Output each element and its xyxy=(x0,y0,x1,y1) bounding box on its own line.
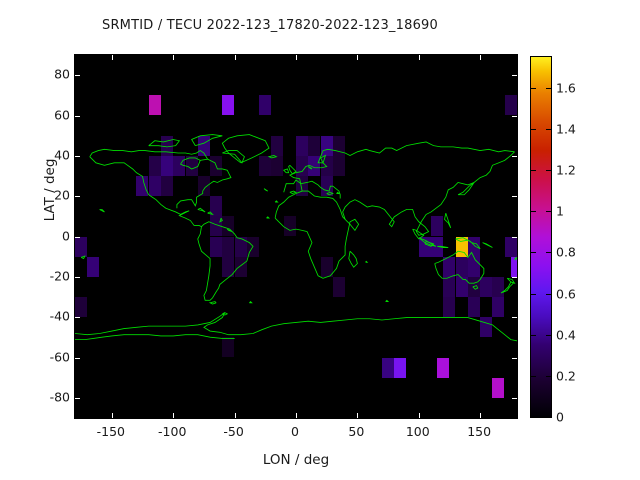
coastline-path xyxy=(192,135,223,146)
coastline-path xyxy=(75,335,235,340)
colorbar-tick-label: 0.6 xyxy=(556,286,576,301)
y-tick-label: 80 xyxy=(54,67,70,82)
coastline-path xyxy=(210,302,216,304)
coastline-path xyxy=(456,238,468,242)
colorbar-tick-mark xyxy=(546,335,551,336)
colorbar-tick-mark xyxy=(531,88,536,89)
coastline-path xyxy=(290,191,296,193)
colorbar xyxy=(530,56,552,418)
x-tick-mark xyxy=(296,55,297,60)
y-tick-mark xyxy=(75,398,80,399)
y-tick-mark xyxy=(512,358,517,359)
x-tick-mark xyxy=(235,413,236,418)
coastline-path xyxy=(222,135,269,163)
coastline-path xyxy=(177,159,231,208)
y-tick-mark xyxy=(512,277,517,278)
coastline-path xyxy=(269,155,276,157)
x-tick-label: 100 xyxy=(406,424,430,439)
coastline-path xyxy=(445,213,451,228)
y-tick-mark xyxy=(75,116,80,117)
coastline-path xyxy=(222,313,227,315)
y-tick-mark xyxy=(512,398,517,399)
colorbar-tick-label: 0.8 xyxy=(556,245,576,260)
y-tick-label: 60 xyxy=(54,107,70,122)
coastline-path xyxy=(81,256,85,258)
coastline-path xyxy=(275,191,358,278)
colorbar-tick-label: 1.4 xyxy=(556,122,576,137)
coastline-path xyxy=(220,218,222,222)
coastline-path xyxy=(468,240,480,249)
colorbar-tick-labels: 00.20.40.60.811.21.41.6 xyxy=(556,56,632,418)
x-tick-mark xyxy=(296,413,297,418)
heatmap-canvas xyxy=(75,55,517,418)
coastline-path xyxy=(308,167,312,169)
y-tick-label: 0 xyxy=(62,228,70,243)
coastline-path xyxy=(473,286,478,290)
colorbar-tick-mark xyxy=(546,170,551,171)
y-tick-label: -80 xyxy=(50,389,70,404)
y-tick-label: -60 xyxy=(50,349,70,364)
coastline-path xyxy=(75,313,517,341)
x-tick-mark xyxy=(480,55,481,60)
colorbar-gradient xyxy=(531,57,551,417)
x-tick-mark xyxy=(112,55,113,60)
y-tick-label: -20 xyxy=(50,268,70,283)
x-tick-mark xyxy=(357,55,358,60)
coastline-path xyxy=(290,142,515,191)
colorbar-tick-mark xyxy=(546,88,551,89)
x-tick-label: 50 xyxy=(348,424,364,439)
y-tick-mark xyxy=(75,196,80,197)
coastline-path xyxy=(275,201,277,202)
coastline-path xyxy=(437,246,448,247)
colorbar-tick-label: 1.6 xyxy=(556,80,576,95)
coastline-path xyxy=(90,157,202,227)
coastline-path xyxy=(100,209,105,211)
x-tick-mark xyxy=(419,413,420,418)
coastline-path xyxy=(343,152,515,235)
y-tick-mark xyxy=(75,75,80,76)
x-tick-mark xyxy=(357,413,358,418)
coastline-path xyxy=(90,149,208,169)
x-tick-mark xyxy=(480,413,481,418)
colorbar-tick-mark xyxy=(531,170,536,171)
x-tick-label: -50 xyxy=(223,424,243,439)
coastline-path xyxy=(483,243,493,248)
coastline-path xyxy=(366,261,367,262)
coastline-path xyxy=(284,169,289,173)
y-tick-mark xyxy=(512,75,517,76)
colorbar-tick-label: 0.4 xyxy=(556,327,576,342)
coastline-path xyxy=(501,282,513,293)
coastline-path xyxy=(208,212,213,214)
y-tick-mark xyxy=(75,237,80,238)
colorbar-tick-mark xyxy=(531,294,536,295)
colorbar-tick-mark xyxy=(546,376,551,377)
chart-title: SRMTID / TECU 2022-123_17820-2022-123_18… xyxy=(0,18,540,33)
coastline-path xyxy=(267,217,269,218)
y-tick-mark xyxy=(75,156,80,157)
x-tick-mark xyxy=(173,413,174,418)
colorbar-tick-mark xyxy=(546,417,551,418)
coastline-path xyxy=(198,222,253,301)
coastline-path xyxy=(386,300,388,301)
coastline-path xyxy=(249,302,251,303)
x-tick-mark xyxy=(235,55,236,60)
colorbar-tick-mark xyxy=(531,335,536,336)
y-axis-label: LAT / deg xyxy=(42,130,58,250)
colorbar-tick-mark xyxy=(531,211,536,212)
colorbar-tick-mark xyxy=(531,252,536,253)
y-tick-mark xyxy=(512,196,517,197)
x-tick-label: 150 xyxy=(467,424,491,439)
colorbar-tick-label: 0 xyxy=(556,410,564,425)
x-tick-mark xyxy=(112,413,113,418)
coastline-path xyxy=(289,165,296,174)
y-tick-mark xyxy=(75,358,80,359)
colorbar-tick-label: 1.2 xyxy=(556,163,576,178)
y-tick-mark xyxy=(75,277,80,278)
y-tick-labels: -80-60-40-20020406080 xyxy=(10,54,70,419)
coastline-path xyxy=(425,241,434,246)
coastline-layer xyxy=(75,55,517,418)
coastline-path xyxy=(349,251,358,267)
y-tick-mark xyxy=(512,237,517,238)
x-tick-mark xyxy=(173,55,174,60)
colorbar-tick-mark xyxy=(546,211,551,212)
coastline-path xyxy=(435,251,484,283)
x-tick-label: -100 xyxy=(158,424,186,439)
colorbar-tick-mark xyxy=(546,129,551,130)
coastline-path xyxy=(337,192,339,193)
coastline-path xyxy=(321,155,326,162)
y-tick-mark xyxy=(512,156,517,157)
map-plot-area xyxy=(74,54,518,419)
y-tick-mark xyxy=(512,116,517,117)
y-tick-mark xyxy=(512,317,517,318)
x-tick-label: 0 xyxy=(291,424,299,439)
coastline-path xyxy=(149,140,180,147)
colorbar-tick-mark xyxy=(546,294,551,295)
colorbar-tick-label: 0.2 xyxy=(556,368,576,383)
x-tick-labels: -150-100-50050100150 xyxy=(74,424,518,442)
coastline-path xyxy=(327,192,333,194)
colorbar-tick-mark xyxy=(546,252,551,253)
x-tick-label: -150 xyxy=(97,424,125,439)
y-tick-label: -40 xyxy=(50,309,70,324)
x-axis-label: LON / deg xyxy=(74,452,518,468)
colorbar-tick-mark xyxy=(531,129,536,130)
coastline-path xyxy=(515,257,517,259)
coastline-path xyxy=(264,189,268,191)
colorbar-tick-label: 1 xyxy=(556,204,564,219)
y-tick-mark xyxy=(75,317,80,318)
colorbar-tick-mark xyxy=(531,376,536,377)
x-tick-mark xyxy=(419,55,420,60)
coastline-path xyxy=(198,208,205,212)
colorbar-tick-mark xyxy=(531,417,536,418)
plot-root: SRMTID / TECU 2022-123_17820-2022-123_18… xyxy=(0,0,640,480)
